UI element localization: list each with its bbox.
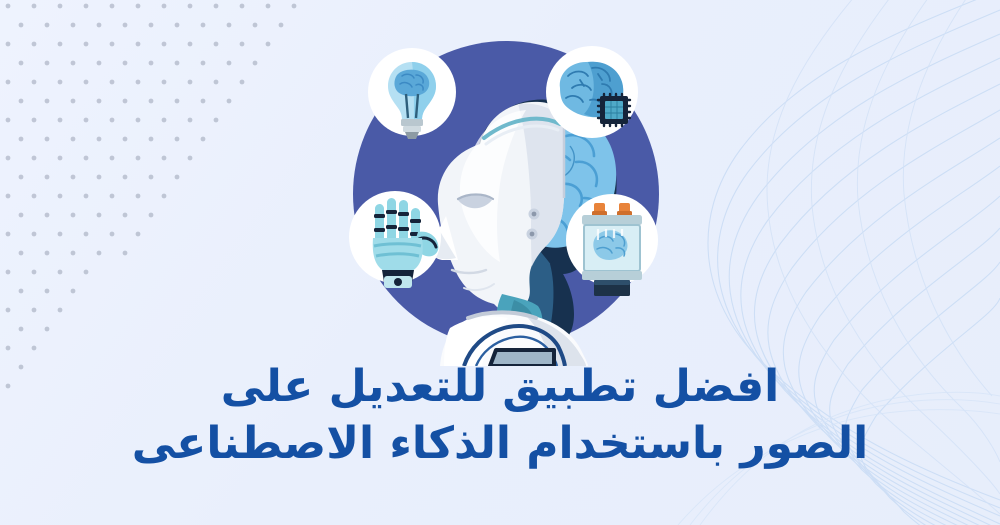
ai-robot-illustration [318, 18, 694, 366]
ai-promo-banner: افضل تطبيق للتعديل على الصور باستخدام ال… [0, 0, 1000, 525]
headline: افضل تطبيق للتعديل على الصور باستخدام ال… [0, 358, 1000, 472]
headline-line-1: افضل تطبيق للتعديل على [0, 358, 1000, 415]
headline-line-2: الصور باستخدام الذكاء الاصطناعى [0, 415, 1000, 472]
brain-chip-icon [546, 46, 638, 138]
microchip [598, 94, 630, 126]
